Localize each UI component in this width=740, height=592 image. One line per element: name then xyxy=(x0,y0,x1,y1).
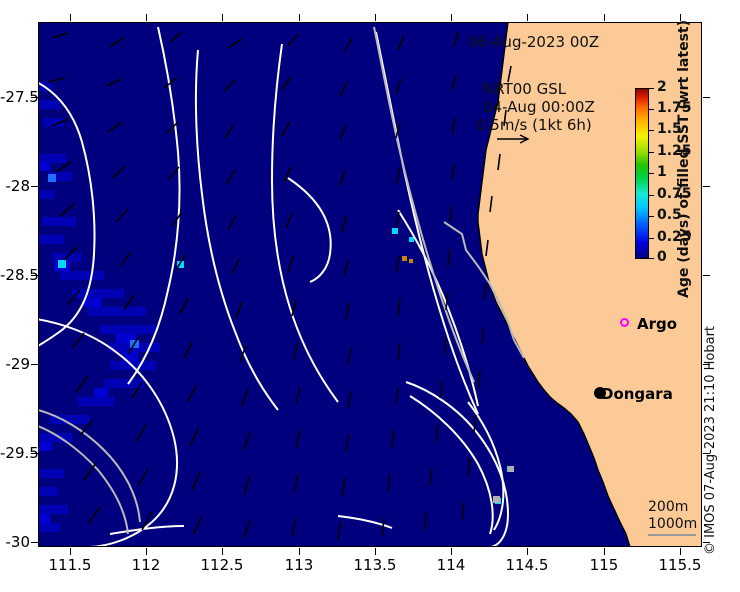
x-tick-top xyxy=(70,14,71,21)
colorbar-tick xyxy=(649,173,654,174)
map-plot-area[interactable] xyxy=(38,22,702,547)
y-tick-label: -30 xyxy=(0,533,30,551)
dongara-label: Dongara xyxy=(601,385,673,403)
argo-marker-icon xyxy=(620,318,629,327)
product-time-label: 04-Aug 00:00Z xyxy=(483,98,595,116)
x-tick xyxy=(299,548,300,555)
x-tick-label: 111.5 xyxy=(30,556,110,574)
colorbar-tick xyxy=(649,109,654,110)
x-tick xyxy=(527,548,528,555)
colorbar-tick xyxy=(649,195,654,196)
colorbar-title: Age (days) of filled SST (wrt latest) xyxy=(676,20,692,298)
reference-arrow-icon xyxy=(495,132,535,146)
colorbar-gradient xyxy=(636,89,648,258)
argo-label: Argo xyxy=(637,315,677,333)
x-tick-label: 112.5 xyxy=(182,556,262,574)
colorbar-tick xyxy=(649,238,654,239)
figure-canvas: 06-Aug-2023 00Z NRT00 GSL 04-Aug 00:00Z … xyxy=(0,0,740,592)
forecast-timestamp-label: 06-Aug-2023 00Z xyxy=(468,33,599,51)
x-tick-label: 113.5 xyxy=(335,556,415,574)
y-tick xyxy=(31,364,38,365)
x-tick-top xyxy=(604,14,605,21)
x-tick-label: 115.5 xyxy=(640,556,720,574)
y-tick-label: -29 xyxy=(0,355,30,373)
colorbar-tick xyxy=(649,152,654,153)
x-tick xyxy=(604,548,605,555)
x-tick-top xyxy=(680,14,681,21)
x-tick-top xyxy=(375,14,376,21)
colorbar-tick xyxy=(649,88,654,89)
x-tick xyxy=(146,548,147,555)
y-tick-label: -28 xyxy=(0,177,30,195)
y-tick-right xyxy=(703,97,710,98)
x-tick-label: 115 xyxy=(564,556,644,574)
depth-key-rule xyxy=(648,534,696,536)
y-tick-label: -27.5 xyxy=(0,88,30,106)
x-tick-top xyxy=(222,14,223,21)
y-tick-right xyxy=(703,275,710,276)
x-tick-label: 113 xyxy=(259,556,339,574)
x-tick-label: 114.5 xyxy=(487,556,567,574)
x-tick-top xyxy=(451,14,452,21)
y-tick-right xyxy=(703,186,710,187)
x-tick-top xyxy=(527,14,528,21)
x-tick xyxy=(451,548,452,555)
depth-key-200m: 200m xyxy=(648,499,688,516)
colorbar-tick-label: 0 xyxy=(657,249,667,265)
x-tick xyxy=(375,548,376,555)
y-tick xyxy=(31,186,38,187)
colorbar xyxy=(635,88,649,259)
x-tick-label: 114 xyxy=(411,556,491,574)
colorbar-tick xyxy=(649,130,654,131)
x-tick xyxy=(680,548,681,555)
x-tick xyxy=(222,548,223,555)
colorbar-tick-label: 2 xyxy=(657,79,667,95)
x-tick-label: 112 xyxy=(106,556,186,574)
y-tick-label: -28.5 xyxy=(0,266,30,284)
depth-key-1000m: 1000m xyxy=(648,516,697,533)
current-vector-arrows xyxy=(38,22,702,547)
colorbar-tick-label: 1 xyxy=(657,164,667,180)
x-tick-top xyxy=(299,14,300,21)
x-tick-top xyxy=(146,14,147,21)
colorbar-tick xyxy=(649,258,654,259)
y-tick xyxy=(31,542,38,543)
product-name-label: NRT00 GSL xyxy=(483,80,566,98)
credit-label: © IMOS 07-Aug-2023 21:10 Hobart xyxy=(703,326,718,555)
y-tick-label: -29.5 xyxy=(0,444,30,462)
colorbar-tick xyxy=(649,216,654,217)
x-tick xyxy=(70,548,71,555)
